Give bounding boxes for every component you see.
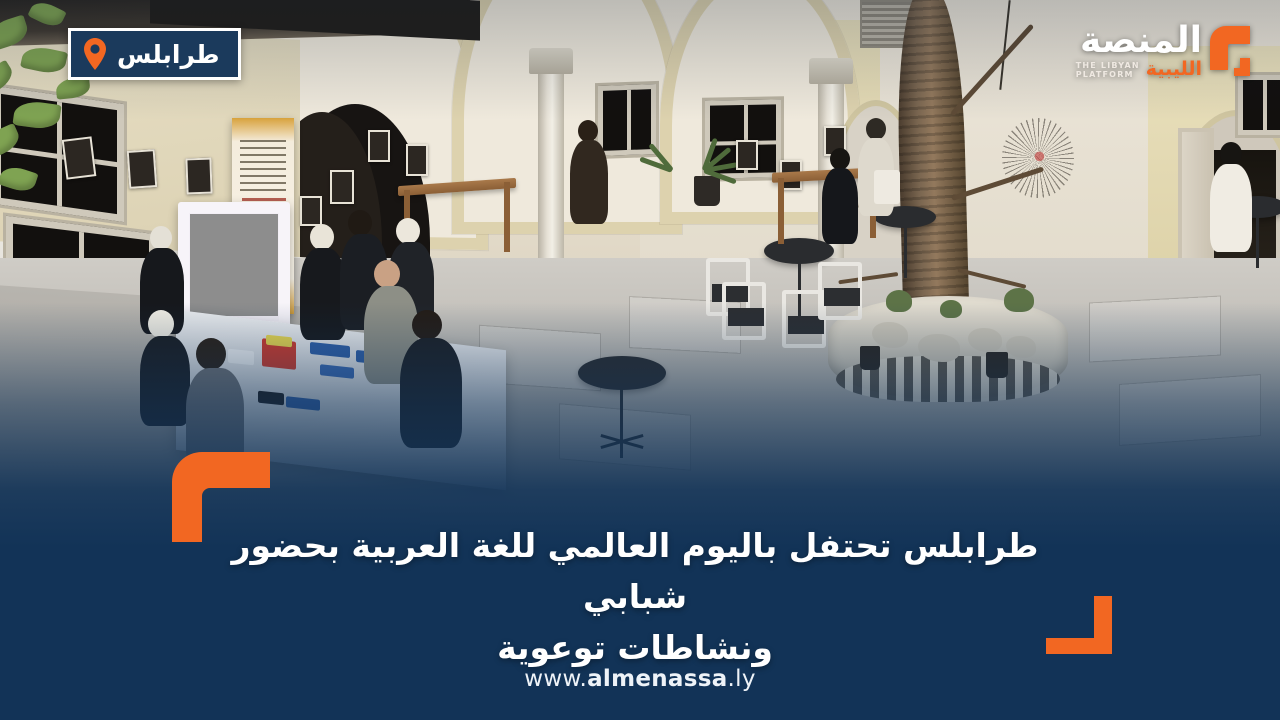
site-url[interactable]: www.almenassa.ly — [0, 666, 1280, 692]
url-suffix: .ly — [728, 666, 756, 692]
location-pin-icon — [83, 38, 107, 70]
headline: طرابلس تحتفل باليوم العالمي للغة العربية… — [190, 520, 1080, 673]
logo-english-line1: THE LIBYAN — [1076, 61, 1140, 70]
logo-subline: THE LIBYAN PLATFORM الليبية — [1076, 60, 1202, 79]
location-label: طرابلس — [117, 42, 220, 67]
news-card: طرابلس المنصة THE LIBYAN PLATFORM الليبي… — [0, 0, 1280, 720]
logo-arabic-main: المنصة — [1080, 24, 1202, 58]
url-name: almenassa — [587, 666, 727, 692]
logo-english-line2: PLATFORM — [1076, 70, 1134, 79]
logo-bracket-icon — [1206, 18, 1258, 82]
url-prefix: www. — [524, 666, 587, 692]
logo-arabic-secondary: الليبية — [1146, 60, 1202, 79]
logo-english: THE LIBYAN PLATFORM — [1076, 61, 1140, 79]
brand-logo[interactable]: المنصة THE LIBYAN PLATFORM الليبية — [1076, 18, 1258, 82]
logo-wordmark: المنصة THE LIBYAN PLATFORM الليبية — [1076, 18, 1202, 79]
location-badge[interactable]: طرابلس — [68, 28, 241, 80]
headline-line-1: طرابلس تحتفل باليوم العالمي للغة العربية… — [232, 526, 1039, 616]
